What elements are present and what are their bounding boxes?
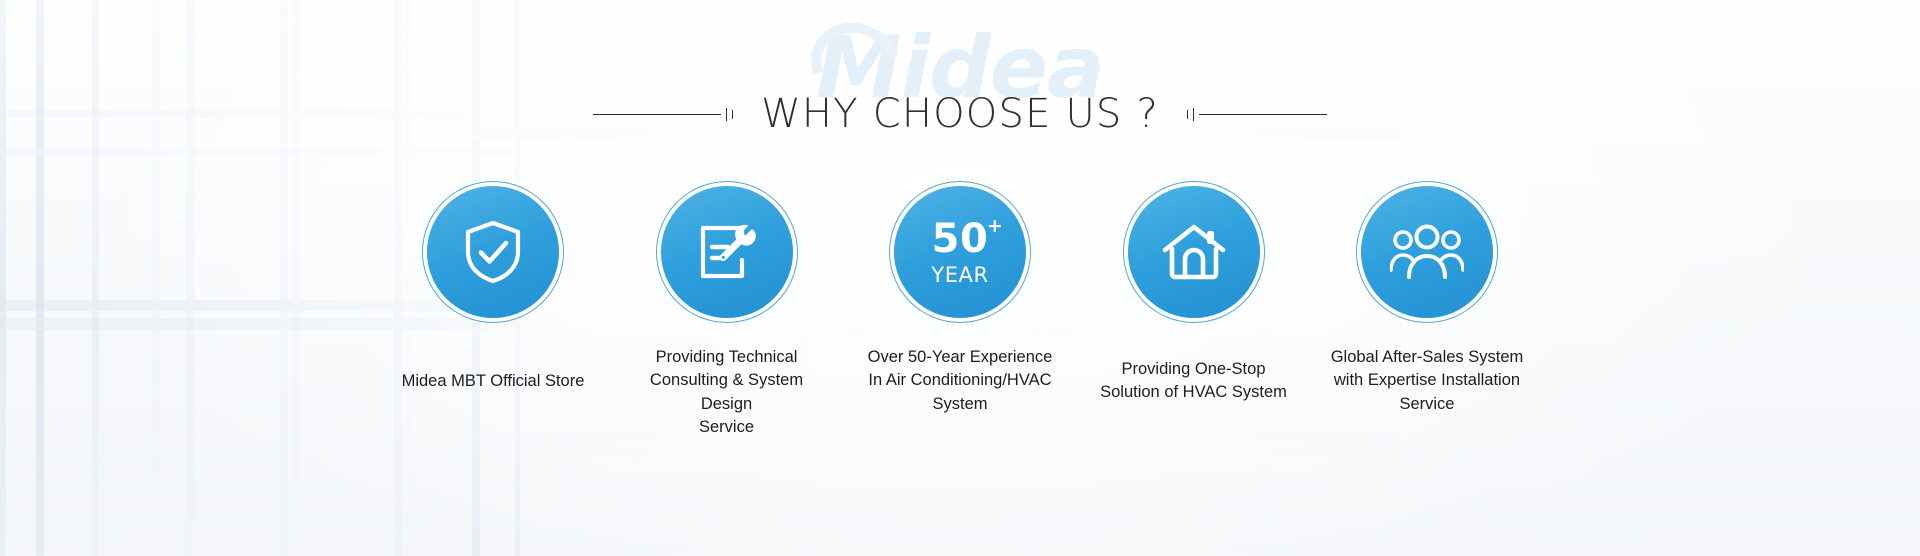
feature-badge-3: 50+ YEAR: [894, 186, 1026, 318]
feature-item-official-store: Midea MBT Official Store: [395, 186, 591, 393]
feature-item-50-year-experience: 50+ YEAR Over 50-Year Experience In Air …: [862, 186, 1058, 416]
why-choose-us-banner: Midea WHY CHOOSE US ?: [0, 0, 1920, 556]
shield-check-icon: [462, 219, 524, 285]
title-rule-right-tick-tall: [1193, 108, 1194, 121]
page-title: WHY CHOOSE US ?: [733, 94, 1187, 134]
title-rule-left-line: [593, 114, 721, 115]
title-rule-left: [593, 108, 733, 121]
title-rule-left-tick-tall: [726, 108, 727, 121]
fifty-year-badge: 50+ YEAR: [931, 219, 988, 286]
feature-badge-5: [1361, 186, 1493, 318]
title-rule-right: [1187, 108, 1327, 121]
feature-caption-5: Global After-Sales System with Expertise…: [1331, 346, 1524, 416]
feature-badge-2: [661, 186, 793, 318]
title-rule-right-tick-short: [1187, 110, 1188, 119]
house-icon: [1161, 222, 1227, 282]
people-group-icon: [1390, 223, 1464, 281]
feature-badge-4: [1128, 186, 1260, 318]
section-title-row: WHY CHOOSE US ?: [0, 94, 1920, 134]
feature-caption-4: Providing One-Stop Solution of HVAC Syst…: [1100, 358, 1287, 405]
years-label: YEAR: [931, 265, 988, 286]
feature-badge-1: [427, 186, 559, 318]
feature-item-technical-consulting: Providing Technical Consulting & System …: [629, 186, 825, 440]
feature-item-after-sales-system: Global After-Sales System with Expertise…: [1329, 186, 1525, 416]
years-superscript: +: [987, 217, 1003, 236]
feature-item-one-stop-solution: Providing One-Stop Solution of HVAC Syst…: [1096, 186, 1292, 405]
feature-caption-2: Providing Technical Consulting & System …: [629, 346, 825, 440]
feature-caption-3: Over 50-Year Experience In Air Condition…: [868, 346, 1053, 416]
years-number: 50+: [932, 219, 989, 259]
document-wrench-icon: [695, 220, 759, 284]
feature-list: Midea MBT Official Store Providing Techn…: [395, 186, 1525, 440]
title-rule-right-line: [1199, 114, 1327, 115]
feature-caption-1: Midea MBT Official Store: [402, 370, 585, 393]
